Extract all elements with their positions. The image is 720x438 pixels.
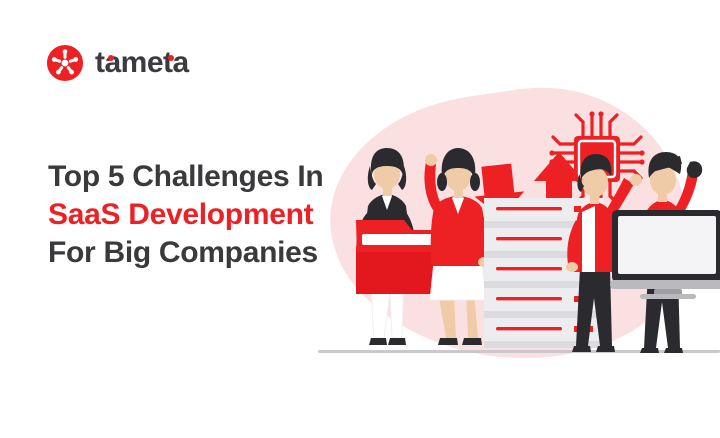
poster-canvas: tameta Top 5 Challenges In SaaS Developm… xyxy=(0,0,720,438)
brand-wordmark: tameta xyxy=(95,48,189,78)
asterisk-flower-icon xyxy=(46,44,84,82)
brand-dot-1 xyxy=(108,55,114,61)
monitor-icon xyxy=(610,210,720,299)
brand-dot-2 xyxy=(168,55,174,61)
ground-line xyxy=(318,350,720,353)
brand-wordmark-text: tameta xyxy=(95,46,189,79)
brand-logo[interactable]: tameta xyxy=(46,44,189,82)
saas-team-illustration xyxy=(318,86,720,376)
